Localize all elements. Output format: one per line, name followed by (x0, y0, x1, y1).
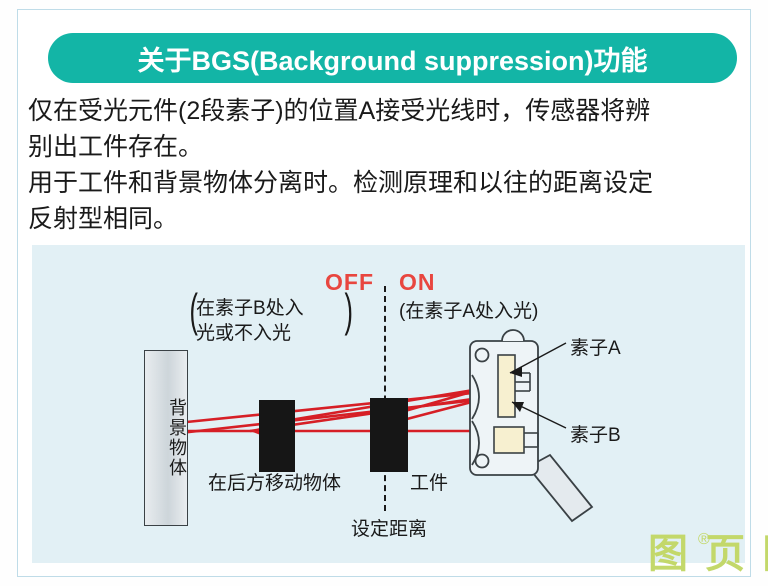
body-line-2: 别出工件存在。 (28, 129, 740, 165)
off-note-line-2: 光或不入光 (196, 321, 356, 346)
workpiece-shape (370, 398, 408, 472)
element-a-label: 素子A (570, 333, 621, 360)
page-title: 关于BGS(Background suppression)功能 (48, 33, 737, 83)
body-line-1: 仅在受光元件(2段素子)的位置A接受光线时，传感器将辨 (28, 93, 740, 129)
light-ray-group (157, 382, 506, 435)
element-a-body (498, 355, 515, 417)
off-note-line-1: 在素子B处入 (196, 296, 356, 321)
section-title-bar: 关于BGS(Background suppression)功能 (48, 33, 737, 83)
moving-object-label: 在后方移动物体 (208, 468, 341, 495)
sensor-mount-hole-top (476, 349, 489, 362)
moving-object-shape (259, 400, 295, 472)
site-watermark: 图 页 网 ® (648, 534, 768, 574)
set-distance-label: 设定距离 (351, 514, 427, 541)
registered-trademark-icon: ® (698, 520, 710, 560)
on-state-note: (在素子A处入光) (399, 299, 538, 324)
state-label-on: ON (399, 269, 436, 296)
element-b-label: 素子B (570, 420, 621, 447)
background-object-label: 背景物体 (144, 378, 188, 498)
element-b-body (494, 427, 524, 453)
page-root: 关于BGS(Background suppression)功能 仅在受光元件(2… (0, 0, 768, 586)
body-line-4: 反射型相同。 (28, 201, 740, 237)
workpiece-label: 工件 (410, 468, 448, 495)
off-state-note: 在素子B处入 光或不入光 (196, 296, 356, 346)
body-line-3: 用于工件和背景物体分离时。检测原理和以往的距离设定 (28, 165, 740, 201)
sensor-adjuster-hump (502, 330, 524, 341)
sensor-mount-hole-bottom (476, 455, 489, 468)
body-paragraph: 仅在受光元件(2段素子)的位置A接受光线时，传感器将辨 别出工件存在。 用于工件… (28, 93, 740, 237)
